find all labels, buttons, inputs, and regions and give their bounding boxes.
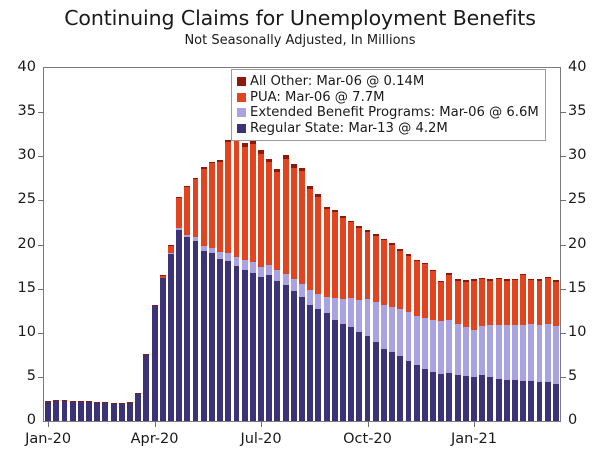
bar-segment-pua bbox=[463, 282, 469, 327]
bar-column bbox=[143, 354, 149, 421]
bar-column bbox=[53, 400, 59, 421]
bar-segment-extended-benefit-programs bbox=[332, 298, 338, 319]
bar-segment-extended-benefit-programs bbox=[422, 318, 428, 369]
bar-segment-pua bbox=[422, 264, 428, 318]
bar-segment-regular-state bbox=[389, 352, 395, 421]
y-tick-label-left: 0 bbox=[0, 412, 36, 428]
bar-column bbox=[332, 210, 338, 421]
bar-column bbox=[70, 401, 76, 421]
bar-segment-regular-state bbox=[266, 275, 272, 421]
x-tick-label: Apr-20 bbox=[95, 431, 215, 447]
bar-segment-regular-state bbox=[430, 372, 436, 421]
bar-segment-extended-benefit-programs bbox=[242, 260, 248, 270]
bar-segment-pua bbox=[242, 147, 248, 261]
bar-segment-extended-benefit-programs bbox=[176, 228, 182, 230]
bar-segment-all-other bbox=[53, 400, 59, 401]
y-tick-label-right: 25 bbox=[568, 191, 586, 207]
bar-column bbox=[356, 226, 362, 421]
y-tick-mark-left bbox=[38, 289, 44, 290]
bar-segment-all-other bbox=[201, 167, 207, 168]
bar-segment-extended-benefit-programs bbox=[209, 248, 215, 253]
bar-segment-regular-state bbox=[414, 365, 420, 421]
bar-segment-all-other bbox=[94, 402, 100, 403]
bar-segment-all-other bbox=[78, 401, 84, 402]
bar-segment-all-other bbox=[389, 243, 395, 245]
bar-segment-regular-state bbox=[119, 403, 125, 421]
bar-segment-regular-state bbox=[348, 327, 354, 421]
bar-segment-regular-state bbox=[520, 381, 526, 421]
bar-segment-regular-state bbox=[365, 336, 371, 421]
bar-segment-all-other bbox=[446, 273, 452, 274]
bar-segment-extended-benefit-programs bbox=[201, 246, 207, 250]
bar-segment-all-other bbox=[119, 403, 125, 404]
bar-segment-all-other bbox=[537, 279, 543, 280]
bar-segment-regular-state bbox=[537, 382, 543, 421]
bar-segment-pua bbox=[397, 251, 403, 309]
bar-segment-regular-state bbox=[78, 402, 84, 421]
bar-column bbox=[553, 280, 559, 421]
bar-column bbox=[496, 278, 502, 421]
y-tick-label-right: 35 bbox=[568, 103, 586, 119]
bar-segment-extended-benefit-programs bbox=[537, 325, 543, 382]
bar-segment-pua bbox=[496, 279, 502, 325]
bar-segment-pua bbox=[446, 275, 452, 321]
bar-segment-pua bbox=[225, 142, 231, 253]
y-tick-mark-right bbox=[560, 289, 566, 290]
bar-segment-all-other bbox=[455, 279, 461, 280]
bar-segment-regular-state bbox=[528, 381, 534, 421]
bar-segment-all-other bbox=[406, 254, 412, 256]
bar-segment-extended-benefit-programs bbox=[438, 321, 444, 374]
bar-segment-all-other bbox=[504, 279, 510, 280]
bar-segment-regular-state bbox=[160, 278, 166, 421]
bar-segment-extended-benefit-programs bbox=[225, 253, 231, 261]
bar-segment-all-other bbox=[422, 263, 428, 264]
bar-segment-extended-benefit-programs bbox=[258, 267, 264, 278]
legend-item: PUA: Mar-06 @ 7.7M bbox=[237, 90, 539, 106]
y-tick-label-left: 30 bbox=[0, 147, 36, 163]
x-tick-mark bbox=[368, 421, 369, 427]
bar-column bbox=[127, 402, 133, 421]
bar-column bbox=[176, 197, 182, 421]
bar-segment-regular-state bbox=[176, 230, 182, 422]
bar-segment-extended-benefit-programs bbox=[504, 325, 510, 380]
bar-column bbox=[315, 194, 321, 421]
bar-segment-regular-state bbox=[553, 384, 559, 421]
bar-column bbox=[160, 276, 166, 421]
legend-swatch-icon bbox=[237, 93, 246, 102]
bar-segment-regular-state bbox=[45, 402, 51, 421]
bar-segment-all-other bbox=[381, 239, 387, 241]
y-tick-mark-right bbox=[560, 245, 566, 246]
bar-segment-all-other bbox=[193, 178, 199, 179]
x-tick-label: Jan-20 bbox=[0, 431, 108, 447]
bar-segment-regular-state bbox=[545, 382, 551, 421]
bar-segment-all-other bbox=[291, 164, 297, 168]
bar-segment-all-other bbox=[62, 400, 68, 401]
bar-segment-pua bbox=[430, 271, 436, 320]
bar-segment-pua bbox=[520, 275, 526, 324]
bar-segment-pua bbox=[307, 189, 313, 290]
y-tick-label-right: 40 bbox=[568, 59, 586, 75]
bar-segment-extended-benefit-programs bbox=[406, 312, 412, 361]
bar-segment-regular-state bbox=[463, 376, 469, 421]
bar-segment-pua bbox=[471, 281, 477, 330]
bar-segment-pua bbox=[234, 141, 240, 257]
x-tick-mark bbox=[261, 421, 262, 427]
bar-segment-pua bbox=[291, 168, 297, 279]
bar-segment-regular-state bbox=[446, 373, 452, 421]
legend-label: Extended Benefit Programs: Mar-06 @ 6.6M bbox=[250, 105, 539, 121]
bar-column bbox=[537, 279, 543, 421]
bar-segment-regular-state bbox=[62, 401, 68, 421]
bar-column bbox=[86, 401, 92, 421]
bar-segment-pua bbox=[537, 281, 543, 325]
bar-segment-pua bbox=[283, 159, 289, 274]
bar-segment-all-other bbox=[324, 207, 330, 209]
bar-column bbox=[414, 260, 420, 421]
bar-column bbox=[438, 281, 444, 421]
bar-segment-regular-state bbox=[487, 377, 493, 421]
y-tick-label-left: 20 bbox=[0, 236, 36, 252]
y-tick-label-left: 40 bbox=[0, 59, 36, 75]
bar-column bbox=[512, 279, 518, 421]
bar-column bbox=[225, 140, 231, 421]
bar-segment-all-other bbox=[266, 159, 272, 163]
bar-segment-pua bbox=[512, 280, 518, 325]
bar-segment-regular-state bbox=[299, 297, 305, 421]
bar-segment-regular-state bbox=[127, 402, 133, 421]
bar-segment-regular-state bbox=[471, 377, 477, 421]
bar-segment-all-other bbox=[463, 280, 469, 281]
bar-column bbox=[217, 160, 223, 421]
bar-segment-regular-state bbox=[168, 254, 174, 421]
bar-segment-regular-state bbox=[201, 251, 207, 421]
bar-segment-regular-state bbox=[234, 266, 240, 421]
bar-segment-extended-benefit-programs bbox=[487, 325, 493, 377]
bar-segment-extended-benefit-programs bbox=[250, 262, 256, 273]
bar-segment-pua bbox=[348, 222, 354, 298]
bar-segment-all-other bbox=[340, 216, 346, 218]
bar-column bbox=[365, 230, 371, 421]
bar-segment-regular-state bbox=[184, 237, 190, 421]
y-tick-mark-left bbox=[38, 245, 44, 246]
y-tick-label-left: 15 bbox=[0, 280, 36, 296]
bar-segment-regular-state bbox=[250, 273, 256, 421]
bar-segment-pua bbox=[504, 281, 510, 325]
bar-column bbox=[471, 279, 477, 421]
legend-item: Extended Benefit Programs: Mar-06 @ 6.6M bbox=[237, 105, 539, 121]
bar-segment-extended-benefit-programs bbox=[168, 253, 174, 254]
bar-segment-all-other bbox=[127, 402, 133, 403]
bar-segment-all-other bbox=[315, 194, 321, 197]
bar-column bbox=[307, 186, 313, 421]
x-tick-mark bbox=[474, 421, 475, 427]
bar-segment-regular-state bbox=[381, 349, 387, 421]
bar-column bbox=[242, 143, 248, 421]
bar-column bbox=[201, 167, 207, 421]
y-tick-mark-right bbox=[560, 112, 566, 113]
bar-segment-pua bbox=[176, 198, 182, 228]
bar-column bbox=[340, 216, 346, 421]
bar-segment-all-other bbox=[242, 143, 248, 147]
bar-segment-extended-benefit-programs bbox=[512, 325, 518, 381]
bar-segment-regular-state bbox=[86, 402, 92, 421]
y-tick-label-left: 25 bbox=[0, 191, 36, 207]
legend-label: All Other: Mar-06 @ 0.14M bbox=[250, 74, 424, 90]
chart-legend: All Other: Mar-06 @ 0.14MPUA: Mar-06 @ 7… bbox=[231, 69, 546, 141]
bar-segment-pua bbox=[184, 187, 190, 235]
bar-segment-regular-state bbox=[143, 355, 149, 421]
bar-segment-all-other bbox=[479, 278, 485, 279]
bar-column bbox=[266, 159, 272, 421]
chart-title: Continuing Claims for Unemployment Benef… bbox=[0, 6, 600, 30]
bar-segment-pua bbox=[193, 179, 199, 236]
bar-segment-regular-state bbox=[53, 401, 59, 421]
bar-column bbox=[258, 150, 264, 421]
y-tick-mark-right bbox=[560, 333, 566, 334]
bar-segment-pua bbox=[324, 209, 330, 297]
bar-segment-pua bbox=[274, 172, 280, 270]
x-tick-label: Jan-21 bbox=[414, 431, 534, 447]
bar-segment-regular-state bbox=[225, 261, 231, 421]
bar-segment-extended-benefit-programs bbox=[365, 299, 371, 336]
y-tick-mark-left bbox=[38, 333, 44, 334]
bar-segment-pua bbox=[168, 245, 174, 253]
bar-column bbox=[504, 279, 510, 421]
bar-segment-extended-benefit-programs bbox=[373, 302, 379, 343]
bar-column bbox=[62, 400, 68, 421]
bar-segment-pua bbox=[266, 162, 272, 264]
bar-segment-extended-benefit-programs bbox=[471, 330, 477, 377]
bar-segment-all-other bbox=[176, 197, 182, 198]
bar-segment-extended-benefit-programs bbox=[299, 284, 305, 297]
bar-segment-regular-state bbox=[258, 277, 264, 421]
bar-segment-extended-benefit-programs bbox=[496, 325, 502, 379]
bar-segment-pua bbox=[365, 232, 371, 299]
bar-segment-regular-state bbox=[340, 324, 346, 421]
bar-column bbox=[430, 270, 436, 421]
bar-segment-pua bbox=[315, 197, 321, 294]
bar-segment-all-other bbox=[487, 279, 493, 280]
bar-segment-extended-benefit-programs bbox=[193, 237, 199, 241]
bar-segment-all-other bbox=[299, 168, 305, 171]
bar-column bbox=[348, 221, 354, 422]
bar-segment-all-other bbox=[111, 403, 117, 404]
bar-segment-extended-benefit-programs bbox=[479, 326, 485, 375]
bar-segment-all-other bbox=[332, 210, 338, 212]
bar-column bbox=[397, 249, 403, 421]
bar-segment-all-other bbox=[86, 401, 92, 402]
bar-segment-all-other bbox=[135, 393, 141, 394]
bar-column bbox=[545, 277, 551, 421]
bar-segment-regular-state bbox=[193, 241, 199, 421]
bar-segment-regular-state bbox=[455, 375, 461, 421]
bar-segment-regular-state bbox=[274, 281, 280, 421]
y-tick-mark-right bbox=[560, 377, 566, 378]
bar-column bbox=[373, 234, 379, 421]
bar-column bbox=[446, 273, 452, 421]
bar-column bbox=[479, 278, 485, 421]
bar-segment-extended-benefit-programs bbox=[348, 298, 354, 326]
y-tick-label-right: 30 bbox=[568, 147, 586, 163]
bar-segment-all-other bbox=[217, 160, 223, 162]
bar-segment-pua bbox=[455, 281, 461, 324]
y-tick-label-right: 15 bbox=[568, 280, 586, 296]
y-tick-mark-left bbox=[38, 377, 44, 378]
bar-segment-all-other bbox=[184, 186, 190, 187]
bar-segment-extended-benefit-programs bbox=[545, 324, 551, 382]
bar-segment-regular-state bbox=[94, 402, 100, 421]
bar-segment-all-other bbox=[160, 275, 166, 276]
bar-segment-pua bbox=[356, 228, 362, 300]
bar-column bbox=[422, 263, 428, 421]
bar-segment-extended-benefit-programs bbox=[463, 327, 469, 376]
bar-segment-pua bbox=[258, 154, 264, 267]
bar-column bbox=[487, 279, 493, 421]
bar-column bbox=[135, 393, 141, 421]
y-tick-label-left: 35 bbox=[0, 103, 36, 119]
legend-label: Regular State: Mar-13 @ 4.2M bbox=[250, 121, 448, 137]
bar-column bbox=[94, 402, 100, 421]
bar-segment-extended-benefit-programs bbox=[324, 297, 330, 313]
bar-segment-all-other bbox=[209, 162, 215, 164]
bar-column bbox=[520, 274, 526, 421]
y-tick-mark-left bbox=[38, 112, 44, 113]
bar-segment-pua bbox=[553, 282, 559, 326]
bar-segment-extended-benefit-programs bbox=[446, 320, 452, 373]
bar-column bbox=[193, 178, 199, 421]
bar-segment-extended-benefit-programs bbox=[389, 307, 395, 352]
bar-segment-regular-state bbox=[102, 402, 108, 421]
bar-segment-all-other bbox=[471, 279, 477, 280]
bar-segment-pua bbox=[479, 279, 485, 326]
bar-segment-pua bbox=[340, 218, 346, 299]
bar-segment-all-other bbox=[102, 402, 108, 403]
bar-column bbox=[528, 279, 534, 421]
bar-segment-regular-state bbox=[291, 291, 297, 421]
bar-segment-regular-state bbox=[479, 375, 485, 421]
bar-segment-extended-benefit-programs bbox=[397, 309, 403, 356]
bar-segment-all-other bbox=[496, 278, 502, 279]
bar-segment-extended-benefit-programs bbox=[356, 300, 362, 332]
bar-column bbox=[274, 169, 280, 421]
bar-segment-regular-state bbox=[438, 374, 444, 421]
bar-column bbox=[291, 164, 297, 421]
bar-column bbox=[209, 162, 215, 421]
bar-segment-regular-state bbox=[324, 313, 330, 421]
bar-segment-regular-state bbox=[152, 306, 158, 421]
bar-segment-all-other bbox=[520, 274, 526, 275]
bar-segment-regular-state bbox=[356, 332, 362, 421]
bar-column bbox=[250, 140, 256, 421]
y-tick-mark-left bbox=[38, 200, 44, 201]
y-tick-mark-right bbox=[560, 156, 566, 157]
bar-segment-extended-benefit-programs bbox=[528, 324, 534, 381]
bar-segment-regular-state bbox=[209, 253, 215, 421]
bar-segment-all-other bbox=[397, 249, 403, 251]
bar-segment-all-other bbox=[545, 277, 551, 278]
y-tick-label-right: 20 bbox=[568, 236, 586, 252]
chart-subtitle: Not Seasonally Adjusted, In Millions bbox=[0, 33, 600, 48]
bar-segment-pua bbox=[209, 163, 215, 248]
legend-swatch-icon bbox=[237, 124, 246, 133]
bar-segment-extended-benefit-programs bbox=[291, 279, 297, 291]
bar-column bbox=[102, 402, 108, 421]
bar-segment-pua bbox=[250, 144, 256, 262]
bar-column bbox=[463, 280, 469, 421]
bar-column bbox=[283, 155, 289, 421]
bar-column bbox=[168, 245, 174, 421]
bar-segment-pua bbox=[201, 169, 207, 247]
bar-segment-regular-state bbox=[504, 380, 510, 421]
bar-segment-extended-benefit-programs bbox=[234, 257, 240, 266]
bar-segment-regular-state bbox=[242, 270, 248, 421]
bar-segment-regular-state bbox=[512, 380, 518, 421]
bar-segment-extended-benefit-programs bbox=[307, 290, 313, 304]
bar-segment-all-other bbox=[512, 279, 518, 280]
bar-segment-all-other bbox=[45, 401, 51, 402]
x-tick-mark bbox=[48, 421, 49, 427]
bar-segment-regular-state bbox=[70, 402, 76, 421]
y-tick-mark-left bbox=[38, 156, 44, 157]
bar-segment-all-other bbox=[274, 169, 280, 172]
x-tick-label: Jul-20 bbox=[201, 431, 321, 447]
bar-column bbox=[324, 207, 330, 421]
bar-segment-pua bbox=[160, 276, 166, 278]
bar-segment-pua bbox=[406, 256, 412, 312]
bar-segment-all-other bbox=[168, 245, 174, 246]
y-tick-label-right: 5 bbox=[568, 368, 577, 384]
legend-item: Regular State: Mar-13 @ 4.2M bbox=[237, 121, 539, 137]
bar-column bbox=[111, 403, 117, 421]
bar-segment-regular-state bbox=[315, 309, 321, 421]
bar-segment-all-other bbox=[414, 260, 420, 261]
bar-segment-extended-benefit-programs bbox=[553, 326, 559, 384]
bar-segment-regular-state bbox=[135, 394, 141, 421]
chart-container: Continuing Claims for Unemployment Benef… bbox=[0, 0, 600, 461]
bar-segment-extended-benefit-programs bbox=[414, 316, 420, 365]
bar-segment-regular-state bbox=[332, 320, 338, 421]
bar-segment-extended-benefit-programs bbox=[217, 252, 223, 258]
bar-segment-regular-state bbox=[406, 361, 412, 421]
y-tick-label-right: 0 bbox=[568, 412, 577, 428]
legend-swatch-icon bbox=[237, 108, 246, 117]
bar-column bbox=[78, 401, 84, 421]
y-tick-label-left: 5 bbox=[0, 368, 36, 384]
bar-segment-all-other bbox=[258, 150, 264, 154]
bar-segment-pua bbox=[381, 240, 387, 305]
bar-segment-pua bbox=[389, 245, 395, 308]
bar-segment-pua bbox=[487, 281, 493, 325]
bar-segment-extended-benefit-programs bbox=[283, 274, 289, 285]
y-tick-label-right: 10 bbox=[568, 324, 586, 340]
bar-segment-all-other bbox=[307, 186, 313, 189]
bar-column bbox=[299, 168, 305, 421]
bar-segment-regular-state bbox=[283, 285, 289, 421]
bar-segment-pua bbox=[438, 282, 444, 321]
bar-segment-pua bbox=[528, 280, 534, 324]
y-tick-label-left: 10 bbox=[0, 324, 36, 340]
bar-segment-all-other bbox=[283, 155, 289, 159]
bar-segment-all-other bbox=[553, 280, 559, 281]
bar-segment-pua bbox=[373, 236, 379, 302]
x-tick-mark bbox=[155, 421, 156, 427]
bar-column bbox=[406, 254, 412, 421]
bar-segment-all-other bbox=[438, 281, 444, 282]
bar-segment-all-other bbox=[430, 270, 436, 271]
bar-segment-regular-state bbox=[422, 369, 428, 421]
